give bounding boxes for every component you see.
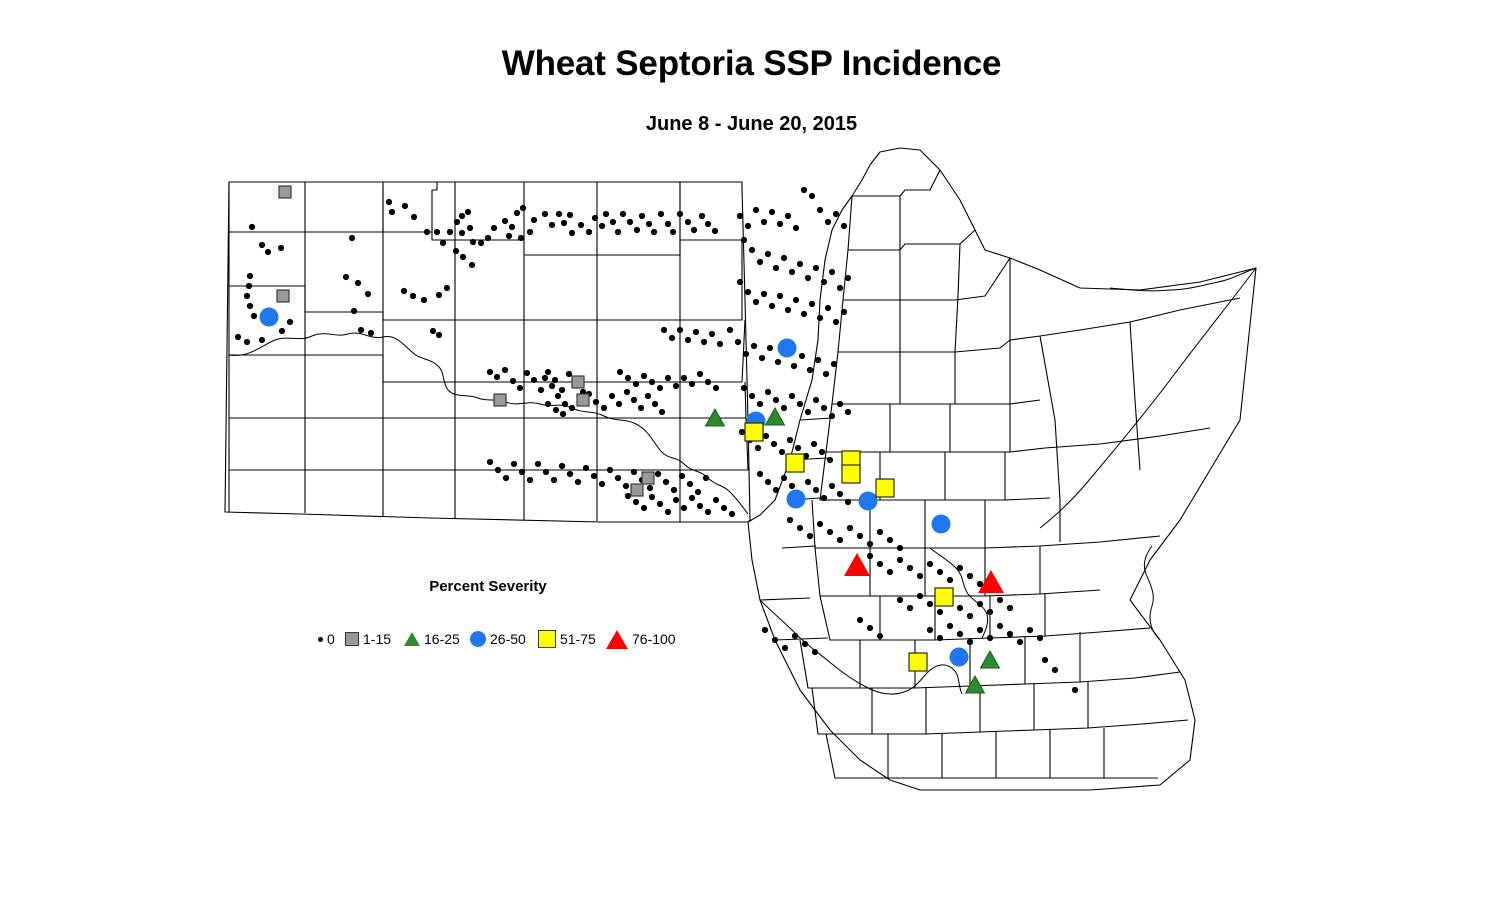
point-0 — [761, 291, 767, 297]
point-0 — [927, 627, 933, 633]
point-0 — [641, 373, 647, 379]
point-0 — [633, 499, 639, 505]
legend-label: 51-75 — [560, 631, 596, 647]
point-0 — [421, 297, 427, 303]
point-0 — [735, 339, 741, 345]
point-0 — [610, 219, 616, 225]
point-0 — [687, 481, 693, 487]
point-0 — [1007, 605, 1013, 611]
point-0 — [789, 393, 795, 399]
point-0 — [527, 477, 533, 483]
triangle-red-icon — [606, 630, 628, 649]
dot-icon — [318, 637, 323, 642]
point-0 — [670, 229, 676, 235]
point-0 — [887, 537, 893, 543]
point-0 — [917, 593, 923, 599]
point-0 — [867, 553, 873, 559]
point-51-75 — [876, 479, 894, 497]
county-boundaries — [225, 148, 1256, 790]
point-0 — [833, 211, 839, 217]
point-0 — [434, 229, 440, 235]
point-0 — [809, 193, 815, 199]
point-0 — [857, 617, 863, 623]
point-0 — [657, 501, 663, 507]
point-0 — [791, 363, 797, 369]
point-0 — [641, 505, 647, 511]
legend-label: 1-15 — [363, 631, 391, 647]
point-0 — [807, 533, 813, 539]
point-0 — [633, 381, 639, 387]
point-0 — [649, 494, 655, 500]
point-0 — [805, 479, 811, 485]
point-0 — [491, 225, 497, 231]
point-0 — [757, 401, 763, 407]
point-0 — [749, 393, 755, 399]
square-gray-icon — [345, 632, 359, 646]
point-0 — [645, 393, 651, 399]
point-0 — [815, 357, 821, 363]
point-0 — [793, 297, 799, 303]
point-0 — [887, 569, 893, 575]
point-0 — [695, 489, 701, 495]
point-0 — [937, 569, 943, 575]
point-51-75 — [842, 465, 860, 483]
point-0 — [741, 237, 747, 243]
point-0 — [511, 461, 517, 467]
point-0 — [1007, 631, 1013, 637]
point-0 — [509, 224, 515, 230]
legend-item-26-50: 26-50 — [470, 626, 526, 652]
point-0 — [769, 303, 775, 309]
point-0 — [665, 375, 671, 381]
point-1-15 — [494, 394, 506, 406]
point-0 — [797, 401, 803, 407]
legend-item-1-15: 1-15 — [345, 626, 391, 652]
point-26-50 — [260, 308, 279, 327]
point-0 — [661, 327, 667, 333]
point-0 — [625, 375, 631, 381]
point-0 — [592, 215, 598, 221]
point-0 — [510, 378, 516, 384]
point-0 — [701, 339, 707, 345]
point-0 — [549, 222, 555, 228]
point-0 — [777, 221, 783, 227]
point-0 — [549, 383, 555, 389]
point-0 — [847, 525, 853, 531]
point-0 — [741, 385, 747, 391]
point-0 — [697, 503, 703, 509]
point-0 — [401, 288, 407, 294]
point-0 — [703, 475, 709, 481]
point-0 — [773, 487, 779, 493]
point-0 — [259, 337, 265, 343]
point-0 — [542, 211, 548, 217]
point-0 — [897, 557, 903, 563]
point-51-75 — [935, 588, 953, 606]
point-0 — [817, 207, 823, 213]
legend-label: 0 — [327, 631, 335, 647]
point-0 — [453, 248, 459, 254]
point-0 — [845, 499, 851, 505]
point-0 — [801, 187, 807, 193]
point-0 — [812, 649, 818, 655]
point-16-25 — [766, 408, 785, 425]
point-0 — [897, 545, 903, 551]
point-1-15 — [277, 290, 289, 302]
point-0 — [789, 483, 795, 489]
point-0 — [436, 332, 442, 338]
point-0 — [649, 379, 655, 385]
point-0 — [278, 245, 284, 251]
point-0 — [514, 210, 520, 216]
point-0 — [235, 334, 241, 340]
point-0 — [527, 229, 533, 235]
point-0 — [631, 397, 637, 403]
point-0 — [789, 269, 795, 275]
point-0 — [775, 359, 781, 365]
point-0 — [712, 228, 718, 234]
point-0 — [837, 401, 843, 407]
point-0 — [553, 407, 559, 413]
point-0 — [616, 401, 622, 407]
legend-items: 01-1516-2526-5051-7576-100 — [300, 626, 700, 652]
point-0 — [677, 211, 683, 217]
point-1-15 — [642, 472, 654, 484]
point-0 — [663, 479, 669, 485]
point-0 — [787, 437, 793, 443]
point-0 — [556, 211, 562, 217]
point-0 — [802, 641, 808, 647]
point-0 — [781, 255, 787, 261]
point-0 — [561, 220, 567, 226]
point-0 — [1037, 635, 1043, 641]
point-0 — [625, 493, 631, 499]
point-0 — [837, 285, 843, 291]
point-0 — [829, 413, 835, 419]
point-0 — [771, 441, 777, 447]
point-0 — [358, 327, 364, 333]
point-0 — [927, 601, 933, 607]
point-0 — [615, 229, 621, 235]
point-0 — [657, 385, 663, 391]
point-0 — [787, 517, 793, 523]
point-0 — [627, 219, 633, 225]
point-0 — [827, 529, 833, 535]
point-0 — [543, 469, 549, 475]
point-0 — [1017, 639, 1023, 645]
point-0 — [436, 292, 442, 298]
point-0 — [947, 577, 953, 583]
point-0 — [737, 213, 743, 219]
point-0 — [817, 521, 823, 527]
point-0 — [583, 465, 589, 471]
point-51-75 — [745, 423, 763, 441]
point-0 — [634, 227, 640, 233]
point-0 — [677, 327, 683, 333]
point-0 — [769, 209, 775, 215]
point-0 — [821, 405, 827, 411]
point-0 — [524, 370, 530, 376]
point-0 — [569, 405, 575, 411]
point-1-15 — [631, 484, 643, 496]
point-0 — [819, 449, 825, 455]
point-0 — [785, 307, 791, 313]
point-16-25 — [981, 651, 1000, 668]
point-0 — [502, 218, 508, 224]
point-0 — [646, 221, 652, 227]
point-26-50 — [787, 490, 806, 509]
point-0 — [997, 623, 1003, 629]
point-0 — [1042, 657, 1048, 663]
point-0 — [773, 397, 779, 403]
legend-item-76-100: 76-100 — [606, 626, 676, 652]
point-0 — [937, 635, 943, 641]
point-0 — [753, 207, 759, 213]
point-0 — [559, 387, 565, 393]
point-0 — [575, 479, 581, 485]
point-0 — [693, 329, 699, 335]
point-0 — [659, 409, 665, 415]
point-0 — [753, 299, 759, 305]
point-0 — [569, 230, 575, 236]
point-0 — [749, 247, 755, 253]
point-0 — [841, 223, 847, 229]
point-0 — [829, 483, 835, 489]
point-51-75 — [909, 653, 927, 671]
point-0 — [487, 459, 493, 465]
point-0 — [485, 235, 491, 241]
point-0 — [545, 401, 551, 407]
point-0 — [652, 401, 658, 407]
point-0 — [244, 293, 250, 299]
point-0 — [709, 331, 715, 337]
point-0 — [739, 429, 745, 435]
point-0 — [831, 361, 837, 367]
point-0 — [987, 635, 993, 641]
point-0 — [792, 633, 798, 639]
point-0 — [562, 401, 568, 407]
point-0 — [638, 405, 644, 411]
point-0 — [249, 224, 255, 230]
point-0 — [705, 509, 711, 515]
circle-blue-icon — [470, 631, 486, 647]
point-0 — [759, 355, 765, 361]
point-0 — [765, 479, 771, 485]
point-0 — [251, 313, 257, 319]
point-0 — [757, 471, 763, 477]
point-0 — [697, 371, 703, 377]
point-0 — [444, 285, 450, 291]
point-0 — [689, 381, 695, 387]
point-0 — [987, 609, 993, 615]
point-26-50 — [932, 515, 951, 534]
point-0 — [763, 433, 769, 439]
point-0 — [833, 319, 839, 325]
point-0 — [246, 283, 252, 289]
point-0 — [460, 254, 466, 260]
point-0 — [655, 471, 661, 477]
point-0 — [617, 369, 623, 375]
point-0 — [713, 497, 719, 503]
point-0 — [349, 235, 355, 241]
point-0 — [801, 311, 807, 317]
point-0 — [467, 225, 473, 231]
point-0 — [729, 511, 735, 517]
point-0 — [1027, 627, 1033, 633]
point-0 — [552, 377, 558, 383]
point-0 — [620, 211, 626, 217]
point-0 — [757, 259, 763, 265]
point-0 — [785, 213, 791, 219]
point-0 — [805, 275, 811, 281]
point-0 — [578, 222, 584, 228]
point-0 — [867, 541, 873, 547]
point-0 — [502, 367, 508, 373]
point-0 — [593, 399, 599, 405]
point-0 — [811, 441, 817, 447]
point-0 — [647, 485, 653, 491]
point-0 — [897, 597, 903, 603]
point-0 — [681, 505, 687, 511]
point-0 — [937, 609, 943, 615]
point-0 — [977, 627, 983, 633]
point-0 — [765, 251, 771, 257]
point-1-15 — [279, 186, 291, 198]
point-0 — [691, 227, 697, 233]
point-76-100 — [844, 553, 870, 576]
legend-item-51-75: 51-75 — [538, 626, 596, 652]
point-0 — [671, 487, 677, 493]
square-yellow-icon — [538, 630, 556, 648]
point-0 — [967, 639, 973, 645]
point-76-100 — [978, 570, 1004, 593]
point-0 — [531, 377, 537, 383]
point-0 — [247, 273, 253, 279]
point-0 — [957, 631, 963, 637]
point-0 — [487, 369, 493, 375]
point-0 — [877, 633, 883, 639]
point-0 — [917, 573, 923, 579]
point-0 — [761, 219, 767, 225]
point-0 — [599, 481, 605, 487]
point-0 — [567, 471, 573, 477]
point-0 — [244, 339, 250, 345]
point-0 — [520, 205, 526, 211]
point-0 — [845, 275, 851, 281]
point-0 — [755, 445, 761, 451]
point-0 — [997, 597, 1003, 603]
point-0 — [259, 242, 265, 248]
map-page: Wheat Septoria SSP Incidence June 8 - Ju… — [0, 0, 1503, 900]
point-26-50 — [950, 648, 969, 667]
point-0 — [823, 371, 829, 377]
point-0 — [721, 505, 727, 511]
point-0 — [837, 537, 843, 543]
legend-item-16-25: 16-25 — [404, 626, 460, 652]
series-51-75 — [745, 423, 953, 671]
point-0 — [494, 374, 500, 380]
point-0 — [465, 209, 471, 215]
point-0 — [591, 473, 597, 479]
point-0 — [545, 369, 551, 375]
point-0 — [813, 265, 819, 271]
point-0 — [727, 327, 733, 333]
point-0 — [411, 214, 417, 220]
triangle-green-icon — [404, 632, 420, 646]
point-0 — [782, 645, 788, 651]
point-1-15 — [572, 376, 584, 388]
point-0 — [386, 199, 392, 205]
point-0 — [805, 409, 811, 415]
point-0 — [685, 219, 691, 225]
point-0 — [807, 367, 813, 373]
point-0 — [685, 337, 691, 343]
point-26-50 — [778, 339, 797, 358]
legend-label: 76-100 — [632, 631, 676, 647]
point-0 — [503, 475, 509, 481]
point-0 — [517, 385, 523, 391]
point-0 — [368, 330, 374, 336]
point-0 — [658, 211, 664, 217]
point-0 — [797, 525, 803, 531]
point-0 — [586, 229, 592, 235]
point-0 — [867, 625, 873, 631]
point-0 — [542, 375, 548, 381]
point-0 — [767, 345, 773, 351]
point-0 — [607, 467, 613, 473]
point-0 — [566, 371, 572, 377]
point-0 — [454, 219, 460, 225]
point-0 — [555, 393, 561, 399]
point-0 — [779, 449, 785, 455]
point-0 — [809, 301, 815, 307]
point-0 — [669, 335, 675, 341]
point-0 — [343, 274, 349, 280]
point-0 — [743, 351, 749, 357]
point-0 — [927, 561, 933, 567]
point-0 — [424, 229, 430, 235]
point-0 — [623, 483, 629, 489]
point-0 — [470, 239, 476, 245]
point-0 — [351, 308, 357, 314]
point-0 — [793, 225, 799, 231]
point-0 — [567, 212, 573, 218]
point-0 — [713, 385, 719, 391]
point-0 — [821, 495, 827, 501]
point-0 — [781, 475, 787, 481]
point-0 — [772, 637, 778, 643]
point-0 — [440, 240, 446, 246]
point-0 — [817, 315, 823, 321]
point-0 — [841, 309, 847, 315]
point-0 — [827, 457, 833, 463]
point-0 — [265, 249, 271, 255]
point-0 — [459, 213, 465, 219]
point-0 — [402, 203, 408, 209]
point-0 — [699, 213, 705, 219]
point-1-15 — [577, 394, 589, 406]
point-0 — [631, 469, 637, 475]
point-0 — [745, 289, 751, 295]
point-0 — [967, 613, 973, 619]
point-0 — [825, 219, 831, 225]
legend: Percent Severity 01-1516-2526-5051-7576-… — [300, 578, 700, 653]
point-0 — [745, 223, 751, 229]
point-0 — [957, 565, 963, 571]
point-0 — [717, 341, 723, 347]
severity-map — [0, 0, 1503, 900]
point-0 — [705, 379, 711, 385]
